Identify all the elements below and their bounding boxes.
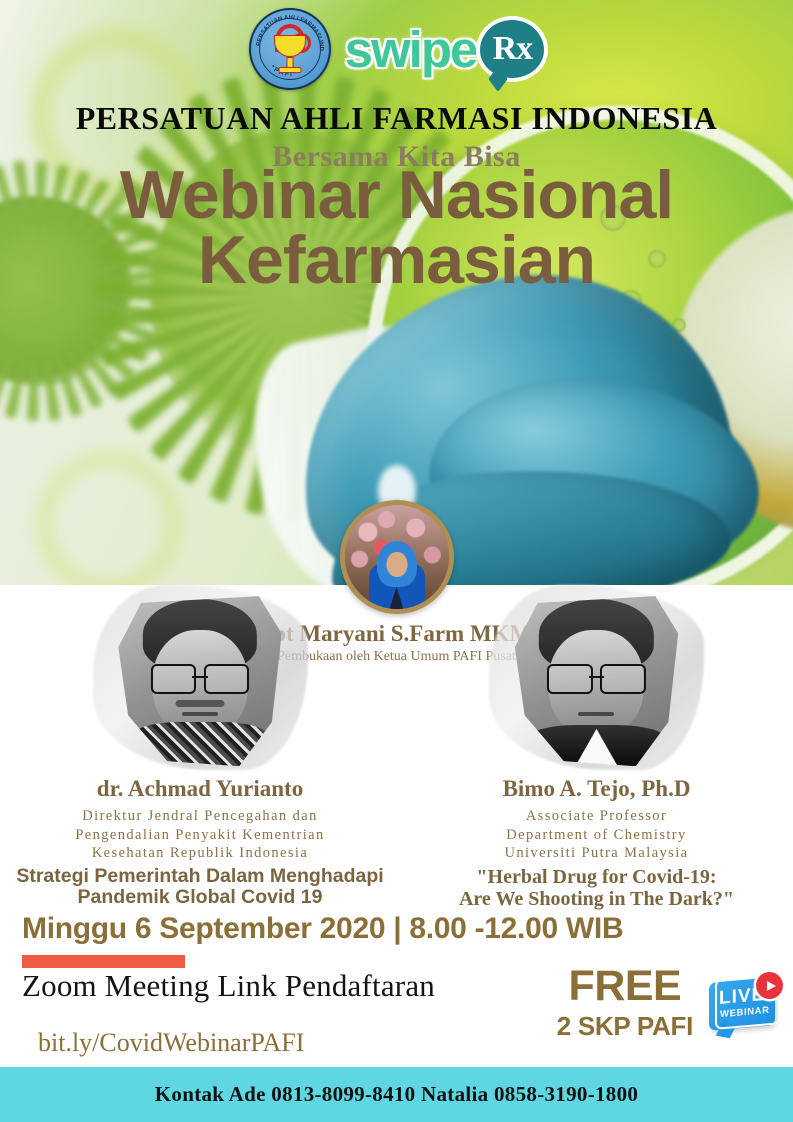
- swiperx-logo: swipe Rx: [345, 20, 545, 78]
- affiliation-line: Universiti Putra Malaysia: [400, 844, 793, 863]
- event-datetime: Minggu 6 September 2020 | 8.00 -12.00 WI…: [22, 912, 623, 946]
- logo-foot: [278, 67, 301, 73]
- price-block: FREE 2 SKP PAFI: [557, 965, 693, 1042]
- topic-line: "Herbal Drug for Covid-19:: [400, 866, 793, 889]
- rx-bubble-icon: Rx: [480, 20, 544, 78]
- webinar-poster: Kontak Ade 0813-8099-8410 Natalia 0858-3…: [0, 0, 793, 1122]
- speaker-affiliation: Associate Professor Department of Chemis…: [400, 807, 793, 863]
- pafi-logo-icon: PERSATUAN AHLI FARMASI INDONESIA * P A F…: [249, 8, 331, 90]
- affiliation-line: Associate Professor: [400, 807, 793, 826]
- platform-line: Zoom Meeting Link Pendaftaran: [22, 968, 435, 1004]
- portrait-moustache: [175, 700, 224, 707]
- speaker-topic: "Herbal Drug for Covid-19: Are We Shooti…: [400, 866, 793, 912]
- contact-text: Kontak Ade 0813-8099-8410 Natalia 0858-3…: [155, 1082, 638, 1107]
- speaker-name: Bimo A. Tejo, Ph.D: [400, 776, 793, 802]
- swipe-wordmark: swipe: [345, 24, 477, 75]
- speaker-topic: Strategi Pemerintah Dalam Menghadapi Pan…: [0, 866, 400, 910]
- speaker-left: dr. Achmad Yurianto Direktur Jendral Pen…: [0, 585, 400, 909]
- affiliation-line: Pengendalian Penyakit Kementrian: [0, 826, 400, 845]
- topic-line: Are We Shooting in The Dark?": [400, 888, 793, 911]
- credits-label: 2 SKP PAFI: [557, 1011, 693, 1042]
- affiliation-line: Direktur Jendral Pencegahan dan: [0, 807, 400, 826]
- registration-link[interactable]: bit.ly/CovidWebinarPAFI: [38, 1028, 304, 1058]
- rx-label: Rx: [493, 30, 533, 68]
- speaker-right: Bimo A. Tejo, Ph.D Associate Professor D…: [400, 585, 793, 911]
- accent-bar: [22, 955, 185, 968]
- affiliation-line: Kesehatan Republik Indonesia: [0, 844, 400, 863]
- header: PERSATUAN AHLI FARMASI INDONESIA * P A F…: [0, 8, 793, 90]
- play-icon: [756, 972, 783, 999]
- speaker-affiliation: Direktur Jendral Pencegahan dan Pengenda…: [0, 807, 400, 863]
- portrait-glasses: [151, 664, 249, 690]
- main-title: Webinar Nasional Kefarmasian: [0, 163, 793, 292]
- avatar-face: [386, 552, 407, 577]
- main-title-line2: Kefarmasian: [0, 228, 793, 293]
- affiliation-line: Department of Chemistry: [400, 826, 793, 845]
- speaker-photo-left: [93, 585, 308, 770]
- live-webinar-badge-icon: LIVE WEBINAR: [705, 972, 785, 1046]
- speaker-name: dr. Achmad Yurianto: [0, 776, 400, 802]
- topic-line: Pandemik Global Covid 19: [0, 887, 400, 909]
- speaker-photo-right: [489, 585, 704, 770]
- portrait-mouth: [182, 712, 218, 716]
- price-label: FREE: [557, 965, 693, 1008]
- contact-bar: Kontak Ade 0813-8099-8410 Natalia 0858-3…: [0, 1067, 793, 1122]
- topic-line: Strategi Pemerintah Dalam Menghadapi: [0, 866, 400, 888]
- portrait-glasses: [547, 664, 645, 690]
- portrait-mouth: [579, 712, 615, 716]
- organization-title: PERSATUAN AHLI FARMASI INDONESIA: [0, 100, 793, 137]
